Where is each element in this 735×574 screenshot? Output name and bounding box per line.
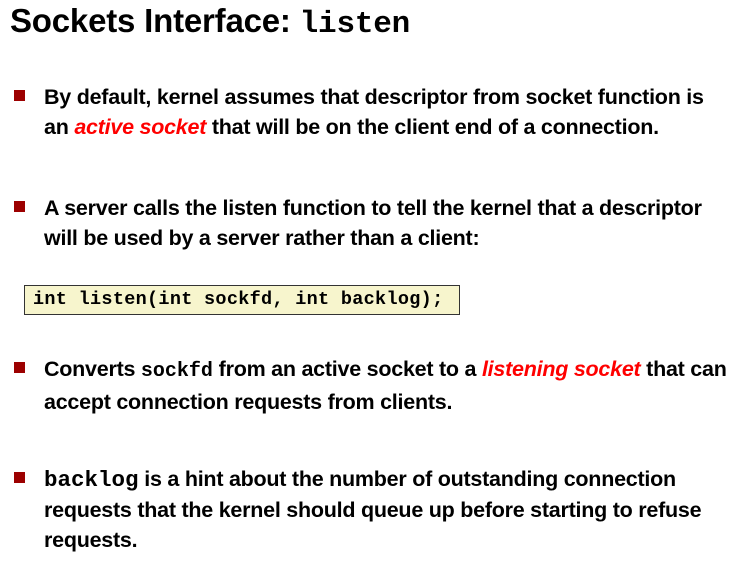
bullet-converts-sockfd: Converts sockfd from an active socket to… [14, 354, 730, 417]
bullet-default-active-socket: By default, kernel assumes that descript… [14, 82, 730, 142]
page-title: Sockets Interface: listen [10, 1, 725, 45]
bullet-4-text: backlog is a hint about the number of ou… [44, 464, 730, 555]
bullet-3-emphasis-listening-socket: listening socket [482, 357, 641, 381]
bullet-2-text: A server calls the listen function to te… [44, 193, 730, 253]
page-title-mono-listen: listen [300, 7, 410, 42]
bullet-1-text: By default, kernel assumes that descript… [44, 82, 730, 142]
bullet-1-emphasis-active-socket: active socket [74, 115, 206, 139]
bullet-3-segment-mid: from an active socket to a [213, 357, 482, 381]
bullet-3-segment-pre: Converts [44, 357, 141, 381]
bullet-backlog-hint: backlog is a hint about the number of ou… [14, 464, 730, 555]
code-signature-box: int listen(int sockfd, int backlog); [24, 285, 460, 315]
bullet-3-code-sockfd: sockfd [141, 360, 213, 383]
bullet-4-segment-post: is a hint about the number of outstandin… [44, 467, 701, 552]
code-signature-text: int listen(int sockfd, int backlog); [33, 290, 443, 310]
bullet-square-icon [14, 472, 25, 483]
page-title-prefix: Sockets Interface: [10, 2, 300, 39]
bullet-1-segment-post: that will be on the client end of a conn… [206, 115, 659, 139]
bullet-4-code-backlog: backlog [44, 467, 139, 493]
bullet-square-icon [14, 201, 25, 212]
bullet-server-listen: A server calls the listen function to te… [14, 193, 730, 253]
bullet-3-text: Converts sockfd from an active socket to… [44, 354, 730, 417]
bullet-square-icon [14, 362, 25, 373]
slide-root: Sockets Interface: listen By default, ke… [0, 0, 735, 574]
bullet-square-icon [14, 90, 25, 101]
